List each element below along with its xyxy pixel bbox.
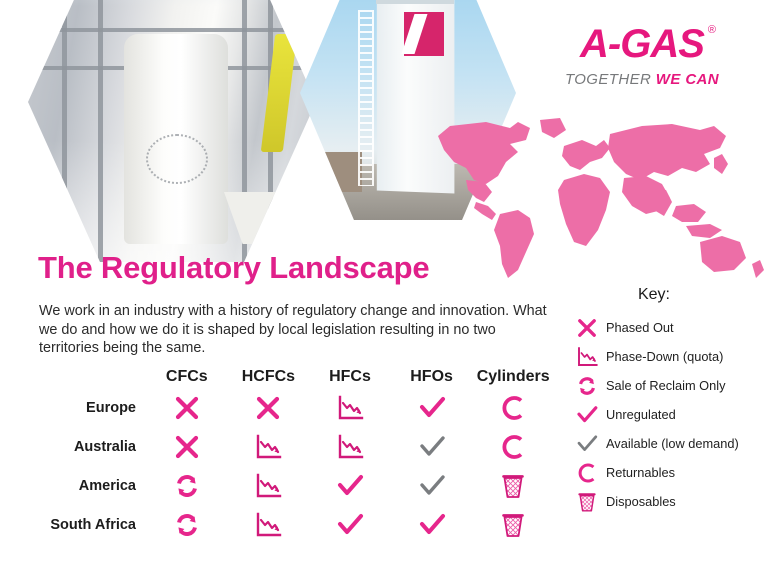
- cell-america-cylinders: [472, 466, 554, 505]
- phased-out-icon: [172, 393, 202, 423]
- column-header-hcfcs: HCFCs: [228, 368, 310, 388]
- returnable-icon: [498, 432, 528, 462]
- unregulated-icon: [572, 403, 602, 427]
- cell-europe-hfcs: [309, 388, 391, 427]
- phase-down-icon: [253, 471, 283, 501]
- cell-europe-cylinders: [472, 388, 554, 427]
- hero-banner: A-GAS® TOGETHER WE CAN: [0, 0, 782, 285]
- phased-out-icon: [572, 316, 602, 340]
- cell-america-cfcs: [146, 466, 228, 505]
- cell-america-hfcs: [309, 466, 391, 505]
- table-row: America: [24, 466, 554, 505]
- key-item-label: Returnables: [602, 465, 675, 480]
- key-item: Sale of Reclaim Only: [572, 371, 778, 400]
- row-label-europe: Europe: [24, 400, 146, 416]
- key-item: Phase-Down (quota): [572, 342, 778, 371]
- low-demand-icon: [572, 432, 602, 456]
- key-item-label: Sale of Reclaim Only: [602, 378, 725, 393]
- intro-paragraph: We work in an industry with a history of…: [39, 302, 559, 358]
- returnable-icon: [498, 393, 528, 423]
- page-title: The Regulatory Landscape: [38, 250, 429, 286]
- cell-america-hcfcs: [228, 466, 310, 505]
- low-demand-icon: [417, 471, 447, 501]
- row-label-america: America: [24, 478, 146, 494]
- unregulated-icon: [335, 471, 365, 501]
- agas-logo: A-GAS® TOGETHER WE CAN: [536, 24, 748, 88]
- key-item: Returnables: [572, 458, 778, 487]
- phased-out-icon: [253, 393, 283, 423]
- key-item-label: Phased Out: [602, 320, 674, 335]
- cell-australia-hfcs: [309, 427, 391, 466]
- logo-text: A-GAS: [580, 22, 704, 66]
- table-row: South Africa: [24, 505, 554, 544]
- unregulated-icon: [417, 393, 447, 423]
- table-row: Australia: [24, 427, 554, 466]
- phase-down-icon: [572, 345, 602, 369]
- cell-australia-hcfcs: [228, 427, 310, 466]
- cell-europe-hfos: [391, 388, 473, 427]
- disposable-icon: [572, 490, 602, 514]
- unregulated-icon: [417, 510, 447, 540]
- cell-australia-hfos: [391, 427, 473, 466]
- cell-australia-cfcs: [146, 427, 228, 466]
- returnable-icon: [572, 461, 602, 485]
- cell-south-africa-cylinders: [472, 505, 554, 544]
- cell-south-africa-cfcs: [146, 505, 228, 544]
- key-item-label: Disposables: [602, 494, 676, 509]
- phase-down-icon: [335, 393, 365, 423]
- cell-europe-cfcs: [146, 388, 228, 427]
- key-legend: Key: Phased Out Phase-Down (quota) Sale …: [572, 286, 778, 516]
- cell-europe-hcfcs: [228, 388, 310, 427]
- column-header-hfcs: HFCs: [309, 368, 391, 388]
- disposable-icon: [498, 510, 528, 540]
- low-demand-icon: [417, 432, 447, 462]
- column-header-cfcs: CFCs: [146, 368, 228, 388]
- row-label-australia: Australia: [24, 439, 146, 455]
- logo-wordmark: A-GAS®: [580, 24, 704, 64]
- disposable-icon: [498, 471, 528, 501]
- table-row: Europe: [24, 388, 554, 427]
- cell-south-africa-hfcs: [309, 505, 391, 544]
- key-item: Available (low demand): [572, 429, 778, 458]
- table-header-row: CFCs HCFCs HFCs HFOs Cylinders: [24, 368, 554, 388]
- cell-australia-cylinders: [472, 427, 554, 466]
- column-header-hfos: HFOs: [391, 368, 473, 388]
- phase-down-icon: [253, 432, 283, 462]
- industrial-plant-photo: [28, 0, 316, 262]
- reclaim-icon: [172, 510, 202, 540]
- row-label-south-africa: South Africa: [24, 517, 146, 533]
- logo-tagline: TOGETHER WE CAN: [536, 71, 748, 88]
- reclaim-icon: [572, 374, 602, 398]
- key-item: Unregulated: [572, 400, 778, 429]
- tagline-plain: TOGETHER: [565, 71, 656, 88]
- key-item: Disposables: [572, 487, 778, 516]
- tagline-highlight: WE CAN: [656, 71, 719, 88]
- key-item-label: Unregulated: [602, 407, 676, 422]
- regulatory-matrix: CFCs HCFCs HFCs HFOs Cylinders Europe: [24, 368, 554, 544]
- cell-america-hfos: [391, 466, 473, 505]
- key-item-label: Available (low demand): [602, 436, 739, 451]
- world-map-graphic: [414, 118, 774, 283]
- column-header-cylinders: Cylinders: [472, 368, 554, 388]
- key-title: Key:: [572, 286, 778, 304]
- phase-down-icon: [253, 510, 283, 540]
- registered-trademark-icon: ®: [708, 25, 715, 36]
- key-item-label: Phase-Down (quota): [602, 349, 723, 364]
- cell-south-africa-hfos: [391, 505, 473, 544]
- infographic-page: A-GAS® TOGETHER WE CAN The Regulatory La…: [0, 0, 782, 569]
- phased-out-icon: [172, 432, 202, 462]
- cell-south-africa-hcfcs: [228, 505, 310, 544]
- reclaim-icon: [172, 471, 202, 501]
- unregulated-icon: [335, 510, 365, 540]
- phase-down-icon: [335, 432, 365, 462]
- key-item: Phased Out: [572, 313, 778, 342]
